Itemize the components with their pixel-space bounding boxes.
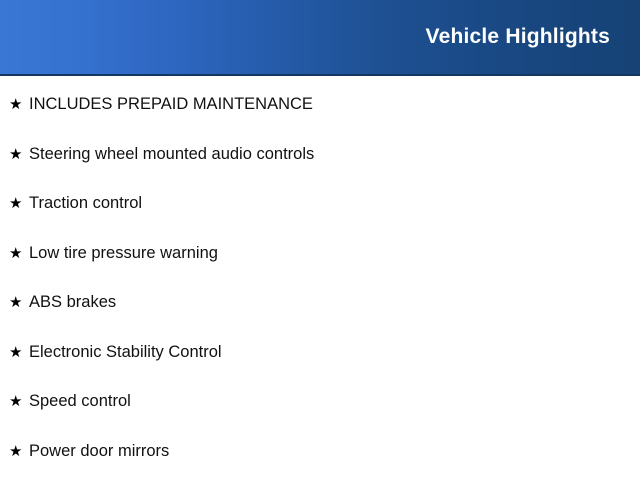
star-icon: ★ xyxy=(9,345,29,360)
list-item-label: Traction control xyxy=(29,195,142,212)
star-icon: ★ xyxy=(9,394,29,409)
list-item: ★ Traction control xyxy=(0,195,640,245)
page-header-banner: Vehicle Highlights xyxy=(0,0,640,76)
star-icon: ★ xyxy=(9,246,29,261)
vehicle-highlights-list: ★ INCLUDES PREPAID MAINTENANCE ★ Steerin… xyxy=(0,76,640,492)
list-item: ★ Power door mirrors xyxy=(0,443,640,492)
list-item-label: Speed control xyxy=(29,393,131,410)
list-item: ★ Low tire pressure warning xyxy=(0,245,640,295)
list-item: ★ Steering wheel mounted audio controls xyxy=(0,146,640,196)
list-item: ★ Electronic Stability Control xyxy=(0,344,640,394)
star-icon: ★ xyxy=(9,444,29,459)
list-item-label: ABS brakes xyxy=(29,294,116,311)
list-item-label: Power door mirrors xyxy=(29,443,169,460)
star-icon: ★ xyxy=(9,97,29,112)
list-item-label: Steering wheel mounted audio controls xyxy=(29,146,314,163)
list-item: ★ INCLUDES PREPAID MAINTENANCE xyxy=(0,76,640,146)
star-icon: ★ xyxy=(9,196,29,211)
star-icon: ★ xyxy=(9,147,29,162)
list-item: ★ Speed control xyxy=(0,393,640,443)
vehicle-highlights-page: Vehicle Highlights ★ INCLUDES PREPAID MA… xyxy=(0,0,640,480)
page-title: Vehicle Highlights xyxy=(426,26,610,49)
list-item-label: INCLUDES PREPAID MAINTENANCE xyxy=(29,96,313,113)
list-item-label: Low tire pressure warning xyxy=(29,245,218,262)
star-icon: ★ xyxy=(9,295,29,310)
list-item: ★ ABS brakes xyxy=(0,294,640,344)
list-item-label: Electronic Stability Control xyxy=(29,344,222,361)
